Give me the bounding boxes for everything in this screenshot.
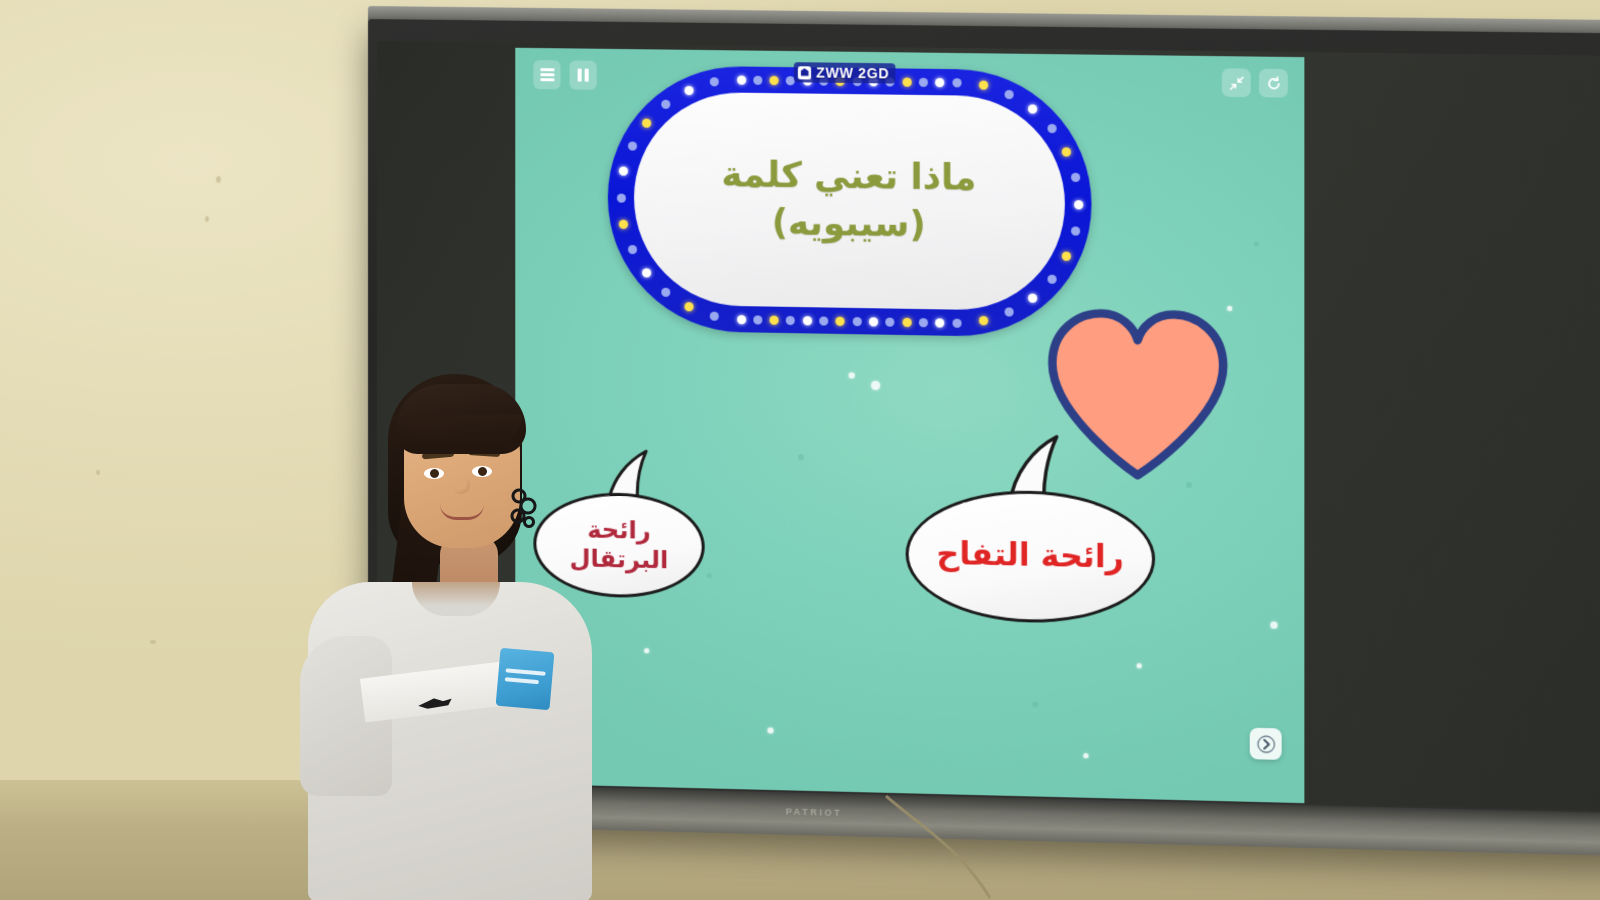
nose (452, 476, 470, 494)
marquee-bulb (935, 77, 944, 86)
marquee-bulb (935, 318, 944, 327)
marquee-bulb (869, 317, 878, 326)
slide-toolbar-right (1222, 68, 1288, 97)
marquee-bulb (1061, 147, 1070, 156)
marquee-bulb (1061, 252, 1070, 261)
marquee-bulb (628, 245, 637, 254)
refresh-button[interactable] (1259, 69, 1288, 98)
marquee-bulb (643, 268, 652, 277)
slide-speckle (644, 648, 649, 653)
marquee-bulb (1047, 274, 1056, 283)
refresh-icon (1266, 75, 1281, 90)
marquee-bulb (770, 315, 779, 324)
marquee-bulb (1005, 307, 1014, 316)
marquee-bulb (1071, 173, 1080, 182)
slide-speckle (1254, 241, 1259, 246)
marquee-bulb (786, 315, 795, 324)
answer-bubble-apple[interactable]: رائحة التفاح (906, 488, 1155, 625)
power-cable (880, 790, 1100, 900)
marquee-bulb (643, 119, 652, 128)
answer-text-apple: رائحة التفاح (937, 536, 1124, 577)
wall-blemish (205, 216, 209, 222)
slide-speckle (767, 727, 773, 733)
marquee-bulb (919, 318, 928, 327)
shrink-button[interactable] (1222, 68, 1251, 97)
marquee-bulb (852, 316, 861, 325)
game-pin-code: ZWW 2GD (816, 64, 889, 81)
hamburger-menu-button[interactable] (533, 60, 560, 89)
pause-icon (578, 69, 589, 82)
marquee-bulb (770, 75, 779, 84)
marquee-bulb (1028, 293, 1037, 302)
slide-speckle (871, 381, 880, 390)
display-brand-label: PATRIOT (786, 806, 843, 817)
marquee-bulb (619, 220, 628, 229)
marquee-bulb (662, 287, 671, 296)
sleeve-badge (496, 648, 555, 710)
marquee-bulb (1071, 226, 1080, 235)
marquee-bulb (753, 75, 762, 84)
marquee-bulb (710, 78, 719, 87)
question-text: ماذا تعني كلمة (سيبويه) (652, 151, 1046, 252)
marquee-bulb (1005, 90, 1014, 99)
hair-front (396, 384, 526, 454)
marquee-bulb (662, 100, 671, 109)
marquee-bulb (886, 317, 895, 326)
marquee-bulb (902, 77, 911, 86)
marquee-bulb (737, 75, 746, 84)
marquee-bulb (616, 193, 625, 202)
eye-left (424, 468, 444, 479)
badge-text-line (505, 677, 539, 684)
house-badge-icon (798, 66, 811, 79)
game-pin-badge[interactable]: ZWW 2GD (794, 62, 895, 83)
marquee-bulb (902, 317, 911, 326)
pause-button[interactable] (570, 60, 597, 89)
slide-speckle (1032, 701, 1038, 707)
marquee-bulb (684, 86, 693, 95)
marquee-bulb (979, 81, 988, 90)
marquee-bulb (619, 167, 628, 176)
wall-blemish (1330, 856, 1337, 861)
next-slide-button[interactable] (1250, 728, 1282, 760)
slide-speckle (1270, 621, 1277, 628)
marquee-bulb (710, 311, 719, 320)
eye-right (472, 466, 492, 477)
earring-decoration (508, 486, 538, 528)
slide-speckle (1186, 482, 1192, 488)
marquee-bulb (836, 316, 845, 325)
marquee-bulb (737, 315, 746, 324)
slide-toolbar-left (533, 60, 596, 90)
marquee-bulb (803, 316, 812, 325)
marquee-bulb (1074, 200, 1083, 209)
marquee-bulb (979, 316, 988, 325)
answer-bubble-body: رائحة التفاح (906, 488, 1155, 625)
wall-blemish (216, 176, 221, 183)
shrink-arrows-icon (1229, 75, 1244, 90)
marquee-bulb (1028, 105, 1037, 114)
student-person (300, 368, 600, 900)
question-card: ماذا تعني كلمة (سيبويه) (608, 65, 1092, 338)
quiz-slide: ZWW 2GD ماذا تعني كلمة (سيبويه) (515, 48, 1304, 803)
marquee-bulb (952, 78, 961, 87)
slide-speckle (707, 573, 712, 578)
marquee-bulb (1047, 124, 1056, 133)
wall-blemish (150, 640, 156, 644)
slide-speckle (1083, 753, 1088, 758)
slide-speckle (1137, 663, 1142, 668)
marquee-bulb (628, 141, 637, 150)
marquee-bulb (952, 318, 961, 327)
marquee-bulb (819, 316, 828, 325)
wall-blemish (96, 470, 100, 475)
badge-text-line (506, 668, 546, 675)
marquee-bulb (684, 302, 693, 311)
chevron-right-icon (1256, 734, 1275, 753)
hamburger-menu-icon (540, 69, 554, 81)
marquee-bulb (919, 77, 928, 86)
slide-speckle (849, 372, 855, 378)
marquee-bulb (753, 315, 762, 324)
slide-speckle (798, 454, 804, 460)
